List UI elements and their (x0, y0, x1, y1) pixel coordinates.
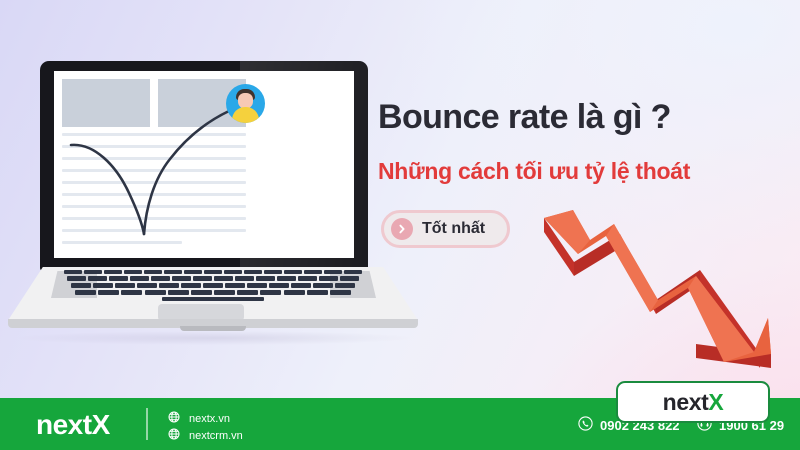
keyboard-key (214, 290, 235, 295)
keyboard-key (124, 270, 142, 274)
keyboard-key (191, 290, 212, 295)
laptop-shadow (18, 331, 410, 345)
keyboard-key (137, 283, 157, 288)
keyboard-key (324, 270, 342, 274)
keyboard-key (313, 283, 333, 288)
page-title: Bounce rate là gì ? (378, 98, 671, 137)
keyboard-key (260, 290, 281, 295)
keyboard-key (104, 270, 122, 274)
keyboard-key (181, 283, 201, 288)
footer-logo: nextX (36, 409, 110, 441)
keyboard-key (93, 283, 113, 288)
keyboard-key (269, 283, 289, 288)
keyboard-key (67, 276, 86, 281)
keyboard-key (307, 290, 328, 295)
keyboard-key (204, 270, 222, 274)
keyboard-key (247, 283, 267, 288)
globe-icon (168, 411, 180, 426)
avatar-body (232, 107, 259, 123)
keyboard-key (130, 276, 149, 281)
keyboard-key (225, 283, 245, 288)
declining-arrow-icon (528, 192, 780, 392)
keyboard-key (98, 290, 119, 295)
footer-site-label: nextcrm.vn (189, 430, 243, 442)
keyboard-key (144, 270, 162, 274)
keyboard-key (88, 276, 107, 281)
keyboard-key (203, 283, 223, 288)
keyboard-key (115, 283, 135, 288)
keyboard-key (340, 276, 359, 281)
promo-banner: Bounce rate là gì ? Những cách tối ưu tỷ… (0, 0, 800, 450)
keyboard-key (64, 270, 82, 274)
keyboard-key (214, 276, 233, 281)
tot-nhat-button-label: Tốt nhất (422, 220, 485, 238)
keyboard-key (344, 270, 362, 274)
keyboard-key (121, 290, 142, 295)
keyboard-key (237, 290, 258, 295)
keyboard-key (164, 270, 182, 274)
badge-text-main: next (663, 389, 709, 416)
keyboard-key (277, 276, 296, 281)
keyboard-key (159, 283, 179, 288)
user-avatar-icon (226, 84, 265, 123)
keyboard-key (71, 283, 91, 288)
keyboard-key (224, 270, 242, 274)
laptop-keyboard (62, 270, 364, 300)
tot-nhat-button[interactable]: Tốt nhất (381, 210, 510, 248)
keyboard-key (330, 290, 351, 295)
keyboard-key (172, 276, 191, 281)
keyboard-key (193, 276, 212, 281)
badge-text-accent: X (708, 389, 723, 416)
keyboard-key (168, 290, 189, 295)
globe-icon (168, 428, 180, 443)
footer-site-label: nextx.vn (189, 413, 230, 425)
footer-divider (146, 408, 148, 440)
page-subtitle: Những cách tối ưu tỷ lệ thoát (378, 158, 690, 185)
laptop-screen (54, 71, 354, 258)
keyboard-key (284, 270, 302, 274)
keyboard-key (184, 270, 202, 274)
keyboard-key (298, 276, 317, 281)
footer-site-nextx[interactable]: nextx.vn (168, 411, 230, 426)
keyboard-key (145, 290, 166, 295)
keyboard-key (235, 276, 254, 281)
keyboard-key (109, 276, 128, 281)
chevron-right-icon (391, 218, 413, 240)
keyboard-spacebar (162, 297, 264, 301)
keyboard-key (319, 276, 338, 281)
keyboard-key (284, 290, 305, 295)
laptop-illustration (8, 55, 418, 355)
keyboard-key (244, 270, 262, 274)
keyboard-key (84, 270, 102, 274)
bounce-curve-icon (54, 71, 354, 258)
keyboard-key (75, 290, 96, 295)
keyboard-key (151, 276, 170, 281)
footer-site-nextcrm[interactable]: nextcrm.vn (168, 428, 243, 443)
keyboard-key (304, 270, 322, 274)
nextx-badge: nextX (616, 381, 770, 423)
keyboard-key (264, 270, 282, 274)
keyboard-key (256, 276, 275, 281)
phone-icon (578, 416, 593, 434)
keyboard-key (291, 283, 311, 288)
keyboard-key (335, 283, 355, 288)
